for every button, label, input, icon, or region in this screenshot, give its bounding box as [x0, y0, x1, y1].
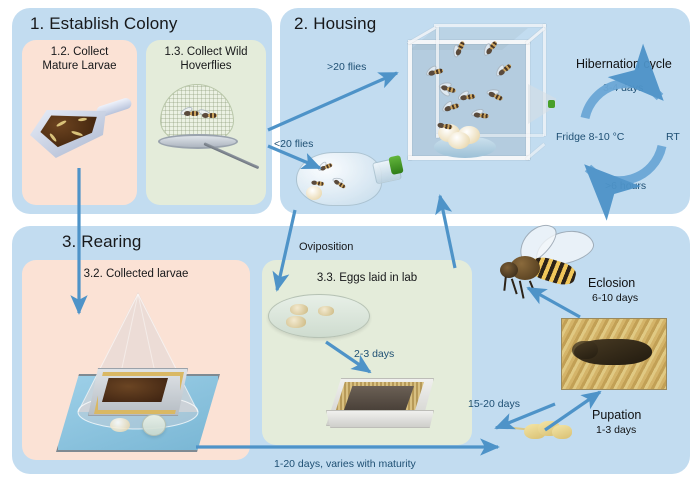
- hibernation-bottom-duration: >6 hours: [605, 180, 646, 192]
- arrow-label-tray-to-maggot: 15-20 days: [468, 398, 520, 410]
- panel-title-establish-colony: 1. Establish Colony: [30, 14, 177, 34]
- arrow-label-pupation-days: 1-3 days: [596, 424, 636, 436]
- hibernation-left-state: Fridge 8-10 °C: [556, 131, 624, 143]
- arrow-label-larvae-to-maggot: 1-20 days, varies with maturity: [274, 458, 416, 470]
- stage-label-pupation: Pupation: [592, 408, 641, 422]
- subpanel-title-collect-wild-hoverflies: 1.3. Collect Wild Hoverflies: [146, 46, 266, 73]
- fly-bottle-illustration: [296, 146, 416, 212]
- subpanel-title-eggs-laid-in-lab: 3.3. Eggs laid in lab: [262, 272, 472, 286]
- rearing-tray-illustration: [322, 372, 440, 438]
- pupa-photograph: [561, 318, 667, 390]
- adult-hoverfly-illustration: [492, 228, 612, 314]
- arrow-label-more-than-20-flies: >20 flies: [327, 61, 366, 73]
- figure-canvas: 1. Establish Colony 1.2. Collect Mature …: [0, 0, 700, 497]
- trowel-with-larvae-illustration: [26, 88, 132, 168]
- subpanel-title-collected-larvae: 3.2. Collected larvae: [22, 268, 250, 282]
- stage-label-oviposition: Oviposition: [299, 241, 353, 253]
- maggot-illustration: [500, 418, 580, 450]
- insect-net-illustration: [148, 82, 264, 174]
- petri-dish-with-eggs-illustration: [268, 292, 374, 342]
- hibernation-cycle-title: Hibernation cycle: [576, 57, 672, 71]
- arrow-label-eggs-to-tray: 2-3 days: [354, 348, 394, 360]
- cone-rearing-cage-illustration: [50, 290, 230, 458]
- hibernation-top-duration: 3-4 days: [603, 82, 643, 94]
- panel-title-housing: 2. Housing: [294, 14, 376, 34]
- subpanel-title-collect-mature-larvae: 1.2. Collect Mature Larvae: [22, 46, 137, 73]
- panel-title-rearing: 3. Rearing: [62, 232, 141, 252]
- arrow-label-less-than-20-flies: <20 flies: [274, 138, 313, 150]
- hibernation-right-state: RT: [666, 131, 680, 143]
- flight-cage-illustration: [396, 22, 556, 182]
